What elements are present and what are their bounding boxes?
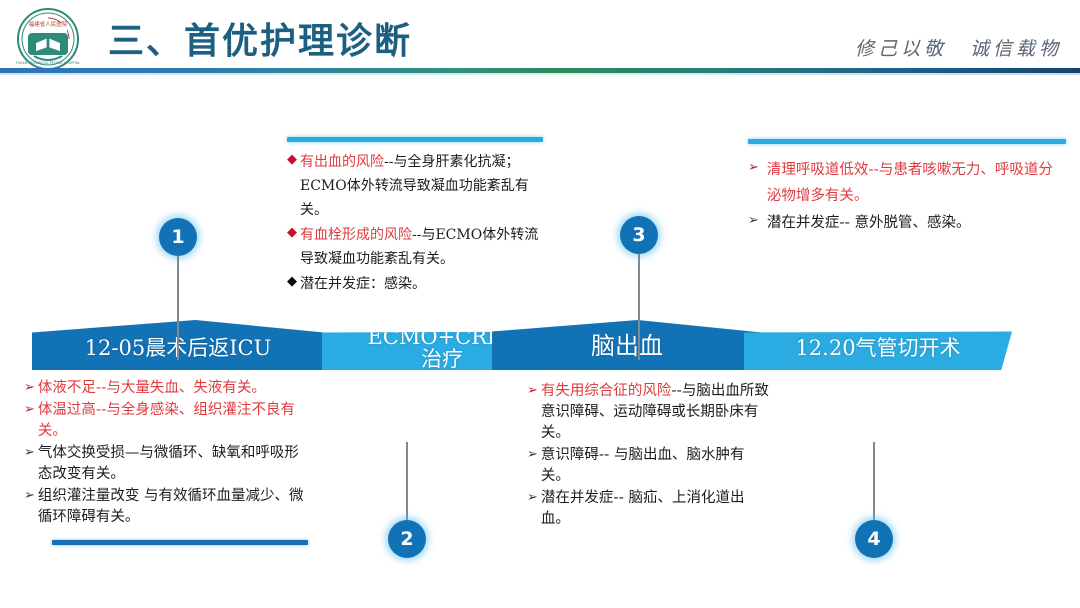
arrow-bullet-icon: ➢ bbox=[748, 158, 759, 178]
text-block-icu: ➢ 体液不足--与大量失血、失液有关。 ➢ 体温过高--与全身感染、组织灌注不良… bbox=[24, 378, 306, 545]
marker-3-stem bbox=[638, 254, 640, 360]
list-item: ➢ 潜在并发症-- 意外脱管、感染。 bbox=[748, 211, 1066, 237]
hospital-seal-icon: 福建省人民医院 FUJIAN PROVINCIAL PEOPLE HOSPITA… bbox=[12, 6, 84, 72]
list-item: ➢ 清理呼吸道低效--与患者咳嗽无力、呼吸道分泌物增多有关。 bbox=[748, 158, 1066, 210]
marker-3[interactable]: 3 bbox=[620, 216, 658, 360]
marker-4-stem bbox=[873, 442, 875, 520]
list-item: ➢ 意识障碍-- 与脑出血、脑水肿有关。 bbox=[527, 445, 770, 487]
list-item-lead: 有血栓形成的风险 bbox=[300, 227, 412, 243]
list-item-lead: 体温过高--与全身感染、组织灌注不良有关。 bbox=[38, 400, 306, 442]
text-block-tracheotomy-list: ➢ 清理呼吸道低效--与患者咳嗽无力、呼吸道分泌物增多有关。 ➢ 潜在并发症--… bbox=[748, 158, 1066, 236]
marker-1[interactable]: 1 bbox=[159, 218, 197, 360]
list-item-lead: 有失用综合征的风险 bbox=[541, 383, 672, 399]
list-item: ➢ 潜在并发症-- 脑疝、上消化道出血。 bbox=[527, 488, 770, 530]
marker-2-number: 2 bbox=[388, 520, 426, 558]
arrow-bullet-icon: ➢ bbox=[527, 488, 538, 508]
text-block-brain-hemorrhage: ➢ 有失用综合征的风险--与脑出血所致意识障碍、运动障碍或长期卧床有关。 ➢ 意… bbox=[527, 381, 770, 531]
list-item-rest: 潜在并发症-- 意外脱管、感染。 bbox=[767, 211, 1066, 237]
text-block-tracheotomy-accent-top bbox=[748, 139, 1066, 144]
list-item: ◆ 潜在并发症：感染。 bbox=[287, 272, 543, 296]
header-motto: 修己以敬 诚信载物 bbox=[855, 34, 1062, 61]
list-item-lead: 清理呼吸道低效--与患者咳嗽无力、呼吸道分泌物增多有关。 bbox=[767, 158, 1066, 210]
banner-segment-trach-label: 12.20气管切开术 bbox=[795, 337, 960, 359]
svg-text:FUJIAN PROVINCIAL PEOPLE HOSPI: FUJIAN PROVINCIAL PEOPLE HOSPITAL bbox=[16, 61, 80, 65]
marker-1-stem bbox=[177, 256, 179, 360]
arrow-bullet-icon: ➢ bbox=[24, 486, 35, 506]
list-item: ➢ 体温过高--与全身感染、组织灌注不良有关。 bbox=[24, 400, 306, 442]
list-item: ◆ 有血栓形成的风险--与ECMO体外转流导致凝血功能紊乱有关。 bbox=[287, 223, 543, 271]
text-block-icu-accent-bottom bbox=[52, 540, 308, 545]
page-header: 福建省人民医院 FUJIAN PROVINCIAL PEOPLE HOSPITA… bbox=[0, 0, 1080, 72]
marker-2-stem bbox=[406, 442, 408, 520]
list-item: ➢ 有失用综合征的风险--与脑出血所致意识障碍、运动障碍或长期卧床有关。 bbox=[527, 381, 770, 444]
text-block-brain-hemorrhage-list: ➢ 有失用综合征的风险--与脑出血所致意识障碍、运动障碍或长期卧床有关。 ➢ 意… bbox=[527, 381, 770, 530]
list-item: ◆ 有出血的风险--与全身肝素化抗凝；ECMO体外转流导致凝血功能紊乱有关。 bbox=[287, 150, 543, 222]
text-block-ecmo-accent-top bbox=[287, 137, 543, 142]
arrow-bullet-icon: ➢ bbox=[24, 378, 35, 398]
list-item-rest: 潜在并发症-- 脑疝、上消化道出血。 bbox=[541, 488, 770, 530]
list-item: ➢ 体液不足--与大量失血、失液有关。 bbox=[24, 378, 306, 399]
diamond-bullet-icon: ◆ bbox=[287, 272, 297, 292]
list-item: ➢ 气体交换受损—与微循环、缺氧和呼吸形态改变有关。 bbox=[24, 443, 306, 485]
diamond-bullet-icon: ◆ bbox=[287, 223, 297, 243]
text-block-ecmo-list: ◆ 有出血的风险--与全身肝素化抗凝；ECMO体外转流导致凝血功能紊乱有关。 ◆… bbox=[287, 150, 543, 296]
arrow-bullet-icon: ➢ bbox=[527, 381, 538, 401]
text-block-tracheotomy: ➢ 清理呼吸道低效--与患者咳嗽无力、呼吸道分泌物增多有关。 ➢ 潜在并发症--… bbox=[748, 139, 1066, 237]
marker-1-number: 1 bbox=[159, 218, 197, 256]
diamond-bullet-icon: ◆ bbox=[287, 150, 297, 170]
arrow-bullet-icon: ➢ bbox=[527, 445, 538, 465]
banner-segment-trach[interactable]: 12.20气管切开术 bbox=[744, 320, 1012, 370]
marker-3-number: 3 bbox=[620, 216, 658, 254]
list-item: ➢ 组织灌注量改变 与有效循环血量减少、微循环障碍有关。 bbox=[24, 486, 306, 528]
text-block-icu-list: ➢ 体液不足--与大量失血、失液有关。 ➢ 体温过高--与全身感染、组织灌注不良… bbox=[24, 378, 306, 528]
marker-4-number: 4 bbox=[855, 520, 893, 558]
marker-2[interactable]: 2 bbox=[388, 442, 426, 558]
arrow-bullet-icon: ➢ bbox=[748, 211, 759, 231]
header-divider-soft bbox=[0, 73, 1080, 75]
marker-4[interactable]: 4 bbox=[855, 442, 893, 558]
arrow-bullet-icon: ➢ bbox=[24, 443, 35, 463]
text-block-ecmo: ◆ 有出血的风险--与全身肝素化抗凝；ECMO体外转流导致凝血功能紊乱有关。 ◆… bbox=[287, 137, 543, 297]
list-item-rest: 组织灌注量改变 与有效循环血量减少、微循环障碍有关。 bbox=[38, 486, 306, 528]
list-item-lead: 有出血的风险 bbox=[300, 154, 384, 170]
svg-text:福建省人民医院: 福建省人民医院 bbox=[29, 20, 68, 28]
page-title: 三、首优护理诊断 bbox=[108, 12, 412, 64]
list-item-lead: 体液不足--与大量失血、失液有关。 bbox=[38, 378, 306, 399]
arrow-bullet-icon: ➢ bbox=[24, 400, 35, 420]
list-item-rest: 潜在并发症：感染。 bbox=[300, 272, 543, 296]
list-item-rest: 气体交换受损—与微循环、缺氧和呼吸形态改变有关。 bbox=[38, 443, 306, 485]
list-item-rest: 意识障碍-- 与脑出血、脑水肿有关。 bbox=[541, 445, 770, 487]
